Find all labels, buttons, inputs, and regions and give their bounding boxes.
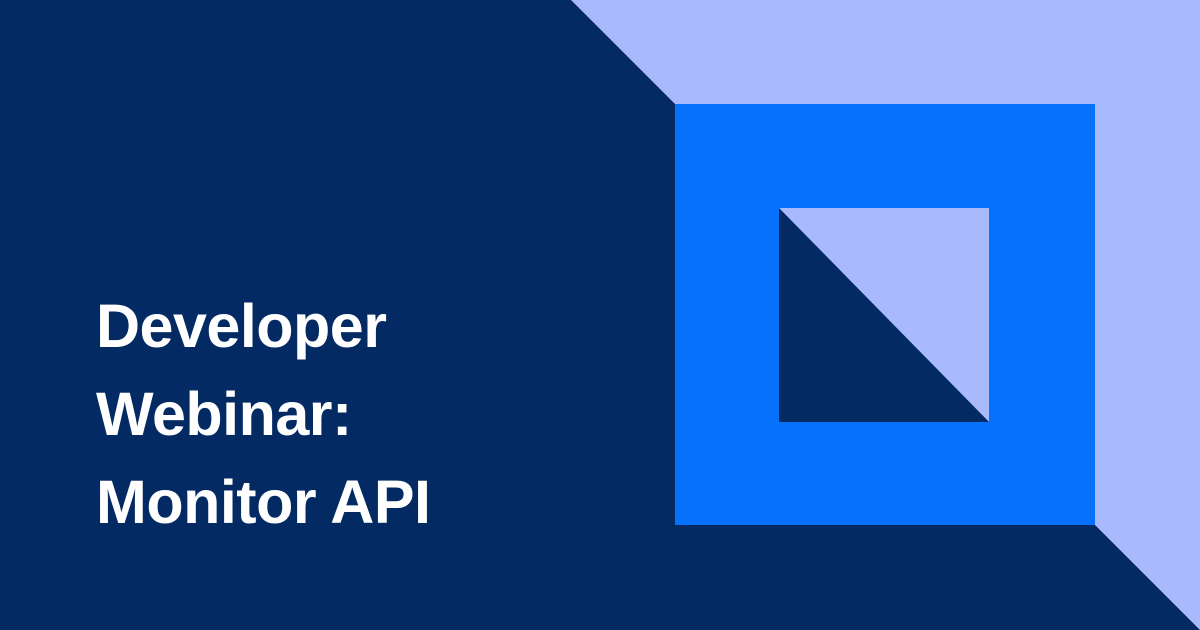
headline-line-3: Monitor API	[96, 458, 566, 546]
promo-card: Developer Webinar: Monitor API	[0, 0, 1200, 630]
headline-line-2: Webinar:	[96, 370, 566, 458]
headline-line-1: Developer	[96, 282, 566, 370]
headline-block: Developer Webinar: Monitor API	[96, 282, 566, 546]
